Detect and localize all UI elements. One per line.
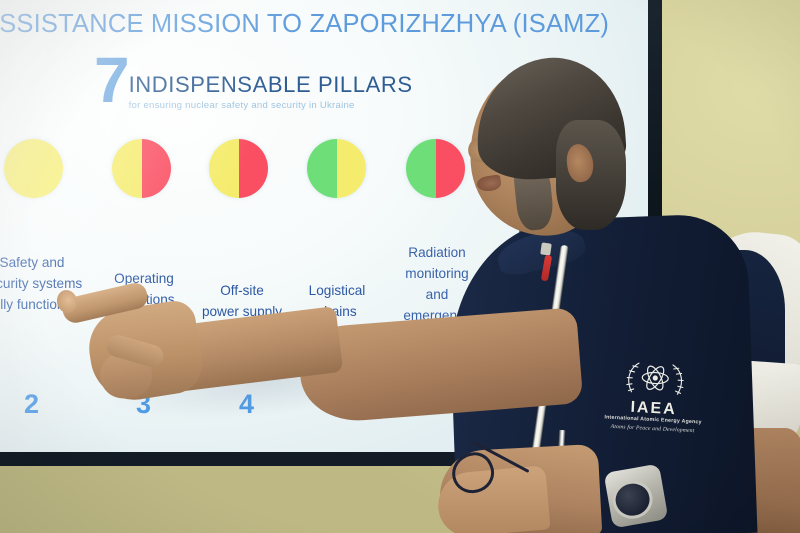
wristwatch: [604, 464, 669, 529]
zipper-tab: [540, 242, 552, 255]
iaea-atom-icon: [617, 356, 693, 402]
person-rafael-grossi: IAEA International Atomic Energy Agency …: [0, 0, 800, 533]
eyeglasses-icon: [452, 443, 516, 495]
photo-scene: ASSISTANCE MISSION TO ZAPORIZHZHYA (ISAM…: [0, 0, 800, 533]
watch-face: [610, 477, 656, 521]
iaea-emblem: IAEA International Atomic Energy Agency …: [598, 355, 710, 449]
